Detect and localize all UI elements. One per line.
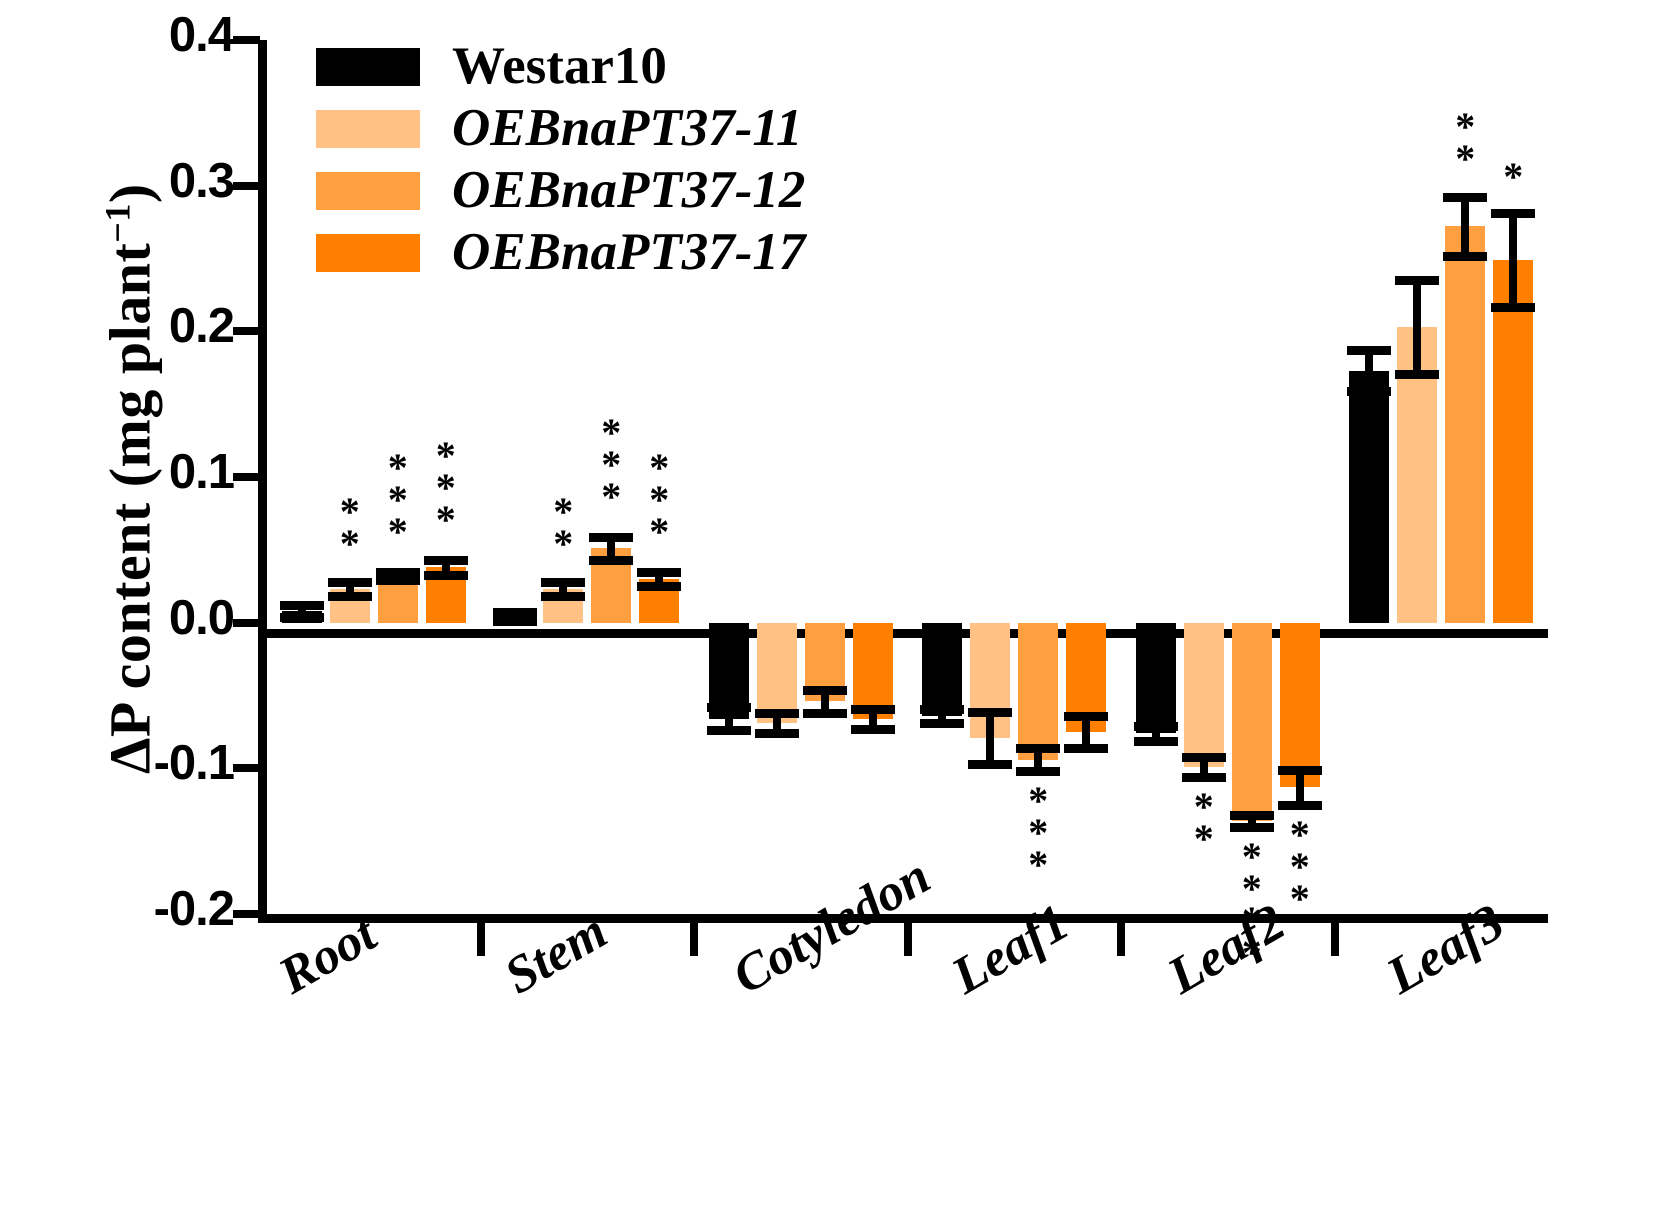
y-axis-tick <box>233 36 260 44</box>
y-axis-tick-label: 0.4 <box>34 7 234 63</box>
y-axis-line <box>258 40 267 922</box>
error-bar-cap <box>803 709 847 718</box>
bar[interactable] <box>1445 226 1485 622</box>
error-bar-cap <box>1134 737 1178 746</box>
y-axis-tick-label: 0.1 <box>34 444 234 500</box>
legend-label: OEBnaPT37-12 <box>452 160 805 220</box>
error-bar-cap <box>1491 303 1535 312</box>
x-axis-tick <box>477 922 485 956</box>
legend-swatch <box>316 110 420 148</box>
error-bar-cap <box>920 705 964 714</box>
error-bar <box>986 712 994 764</box>
significance-marker: * <box>1483 161 1543 193</box>
error-bar-cap <box>1182 753 1226 762</box>
error-bar <box>1509 213 1517 306</box>
error-bar-cap <box>755 709 799 718</box>
y-axis-tick <box>233 473 260 481</box>
y-axis-tick-label: 0.3 <box>34 153 234 209</box>
y-axis-tick-label: 0.0 <box>34 590 234 646</box>
error-bar-cap <box>1230 823 1274 832</box>
bar[interactable] <box>922 623 962 716</box>
legend-item[interactable]: Westar10 <box>316 38 956 100</box>
y-axis-tick <box>233 764 260 772</box>
legend-item[interactable]: OEBnaPT37-12 <box>316 162 956 224</box>
legend-swatch <box>316 48 420 86</box>
legend-label: OEBnaPT37-17 <box>452 222 805 282</box>
error-bar-cap <box>424 571 468 580</box>
legend-item[interactable]: OEBnaPT37-11 <box>316 100 956 162</box>
error-bar-cap <box>968 708 1012 717</box>
error-bar-cap <box>1347 346 1391 355</box>
error-bar-cap <box>1230 811 1274 820</box>
error-bar-cap <box>755 729 799 738</box>
error-bar-cap <box>851 705 895 714</box>
y-axis-tick <box>233 327 260 335</box>
error-bar-cap <box>1278 766 1322 775</box>
legend-item[interactable]: OEBnaPT37-17 <box>316 224 956 286</box>
error-bar-cap <box>803 686 847 695</box>
error-bar-cap <box>1064 712 1108 721</box>
bar-group: ********* <box>1136 40 1320 914</box>
significance-marker: *** <box>1008 785 1068 881</box>
error-bar-cap <box>637 582 681 591</box>
bar[interactable] <box>1232 623 1272 821</box>
x-axis-tick <box>1331 922 1339 956</box>
y-axis-tick-label: 0.2 <box>34 298 234 354</box>
y-axis-tick-label: -0.1 <box>34 735 234 791</box>
legend-swatch <box>316 234 420 272</box>
error-bar-cap <box>589 533 633 542</box>
error-bar <box>1461 197 1469 255</box>
error-bar-cap <box>1443 193 1487 202</box>
error-bar-cap <box>493 608 537 617</box>
error-bar-cap <box>424 556 468 565</box>
error-bar-cap <box>328 578 372 587</box>
bar[interactable] <box>1280 623 1320 788</box>
error-bar-cap <box>589 556 633 565</box>
error-bar-cap <box>851 725 895 734</box>
y-axis-tick-label: -0.2 <box>34 881 234 937</box>
error-bar-cap <box>280 601 324 610</box>
bar-group: *** <box>1349 40 1533 914</box>
error-bar-cap <box>637 568 681 577</box>
bar[interactable] <box>1136 623 1176 734</box>
x-axis-tick <box>690 922 698 956</box>
error-bar-cap <box>1395 370 1439 379</box>
legend: Westar10OEBnaPT37-11OEBnaPT37-12OEBnaPT3… <box>316 38 956 286</box>
error-bar <box>1413 280 1421 373</box>
error-bar-cap <box>1182 773 1226 782</box>
error-bar-cap <box>707 726 751 735</box>
error-bar <box>1365 350 1373 391</box>
significance-marker: *** <box>416 440 476 536</box>
bar[interactable] <box>1349 371 1389 623</box>
error-bar <box>1296 770 1304 805</box>
error-bar-cap <box>920 719 964 728</box>
error-bar-cap <box>328 592 372 601</box>
legend-label: Westar10 <box>452 36 667 96</box>
y-axis-tick <box>233 910 260 918</box>
error-bar-cap <box>707 703 751 712</box>
error-bar-cap <box>541 578 585 587</box>
error-bar-cap <box>1016 767 1060 776</box>
error-bar-cap <box>1443 252 1487 261</box>
y-axis-tick <box>233 619 260 627</box>
error-bar-cap <box>376 568 420 577</box>
x-axis-tick <box>904 922 912 956</box>
bar[interactable] <box>1018 623 1058 760</box>
bar[interactable] <box>1493 260 1533 623</box>
x-axis-tick <box>1117 922 1125 956</box>
error-bar-cap <box>1278 801 1322 810</box>
y-axis-title-exponent: −1 <box>97 203 137 243</box>
error-bar-cap <box>1134 722 1178 731</box>
error-bar-cap <box>1395 276 1439 285</box>
error-bar-cap <box>1016 744 1060 753</box>
error-bar-cap <box>493 617 537 626</box>
error-bar-cap <box>280 613 324 622</box>
error-bar-cap <box>1347 387 1391 396</box>
legend-label: OEBnaPT37-11 <box>452 98 802 158</box>
significance-marker: *** <box>629 452 689 548</box>
error-bar-cap <box>376 576 420 585</box>
chart-figure: ΔP content (mg plant−1) 0.40.30.20.10.0-… <box>0 0 1653 1210</box>
error-bar-cap <box>1064 744 1108 753</box>
significance-marker: *** <box>1270 819 1330 915</box>
y-axis-tick <box>233 182 260 190</box>
bar[interactable] <box>1184 623 1224 767</box>
error-bar-cap <box>541 592 585 601</box>
legend-swatch <box>316 172 420 210</box>
error-bar-cap <box>968 760 1012 769</box>
error-bar-cap <box>1491 209 1535 218</box>
